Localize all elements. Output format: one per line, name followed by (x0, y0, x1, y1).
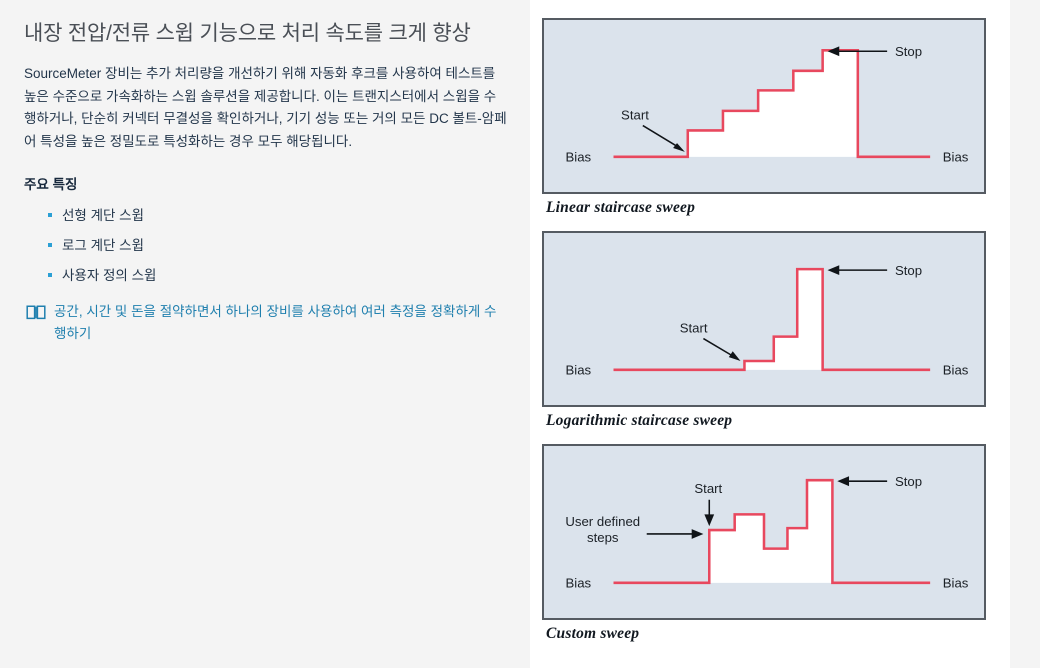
user-defined-steps-label-line2: steps (587, 530, 619, 545)
figure-caption: Custom sweep (546, 625, 996, 643)
bullet-icon (48, 213, 52, 217)
feature-label: 선형 계단 스윕 (62, 208, 144, 223)
figure-caption: Logarithmic staircase sweep (546, 412, 996, 430)
key-features-heading: 주요 특징 (24, 173, 508, 193)
start-label: Start (680, 321, 708, 336)
feature-label: 사용자 정의 스윕 (62, 268, 156, 283)
bullet-icon (48, 243, 52, 247)
figure-custom-sweep: Bias Bias Start User defined steps Stop … (542, 444, 996, 643)
stop-label: Stop (895, 44, 922, 59)
page-title: 내장 전압/전류 스윕 기능으로 처리 속도를 크게 향상 (24, 18, 508, 49)
figures-column: Bias Bias Start Stop Linear staircase sw… (530, 0, 1010, 668)
feature-list: 선형 계단 스윕 로그 계단 스윕 사용자 정의 스윕 (24, 207, 508, 285)
linear-staircase-sweep-chart: Bias Bias Start Stop (542, 18, 986, 194)
bias-right-label: Bias (943, 576, 969, 591)
bias-right-label: Bias (943, 363, 969, 378)
feature-label: 로그 계단 스윕 (62, 238, 144, 253)
list-item: 사용자 정의 스윕 (62, 267, 508, 285)
stop-label: Stop (895, 263, 922, 278)
page-root: 내장 전압/전류 스윕 기능으로 처리 속도를 크게 향상 SourceMete… (0, 0, 1040, 668)
figure-logarithmic-staircase-sweep: Bias Bias Start Stop Logarithmic stairca… (542, 231, 996, 430)
stop-label: Stop (895, 474, 922, 489)
related-resource-label[interactable]: 공간, 시간 및 돈을 절약하면서 하나의 장비를 사용하여 여러 측정을 정확… (54, 301, 508, 345)
user-defined-steps-label-line1: User defined (565, 514, 640, 529)
figure-linear-staircase-sweep: Bias Bias Start Stop Linear staircase sw… (542, 18, 996, 217)
bias-left-label: Bias (565, 150, 591, 165)
bias-left-label: Bias (565, 363, 591, 378)
article-paragraph: SourceMeter 장비는 추가 처리량을 개선하기 위해 자동화 후크를 … (24, 63, 508, 153)
bias-left-label: Bias (565, 576, 591, 591)
bullet-icon (48, 273, 52, 277)
article-column: 내장 전압/전류 스윕 기능으로 처리 속도를 크게 향상 SourceMete… (0, 0, 530, 668)
start-label: Start (694, 481, 722, 496)
start-label: Start (621, 108, 649, 123)
logarithmic-staircase-sweep-chart: Bias Bias Start Stop (542, 231, 986, 407)
figure-caption: Linear staircase sweep (546, 199, 996, 217)
custom-sweep-chart: Bias Bias Start User defined steps Stop (542, 444, 986, 620)
related-resource-link[interactable]: 공간, 시간 및 돈을 절약하면서 하나의 장비를 사용하여 여러 측정을 정확… (24, 301, 508, 345)
open-book-icon (26, 304, 46, 320)
list-item: 선형 계단 스윕 (62, 207, 508, 225)
bias-right-label: Bias (943, 150, 969, 165)
list-item: 로그 계단 스윕 (62, 237, 508, 255)
